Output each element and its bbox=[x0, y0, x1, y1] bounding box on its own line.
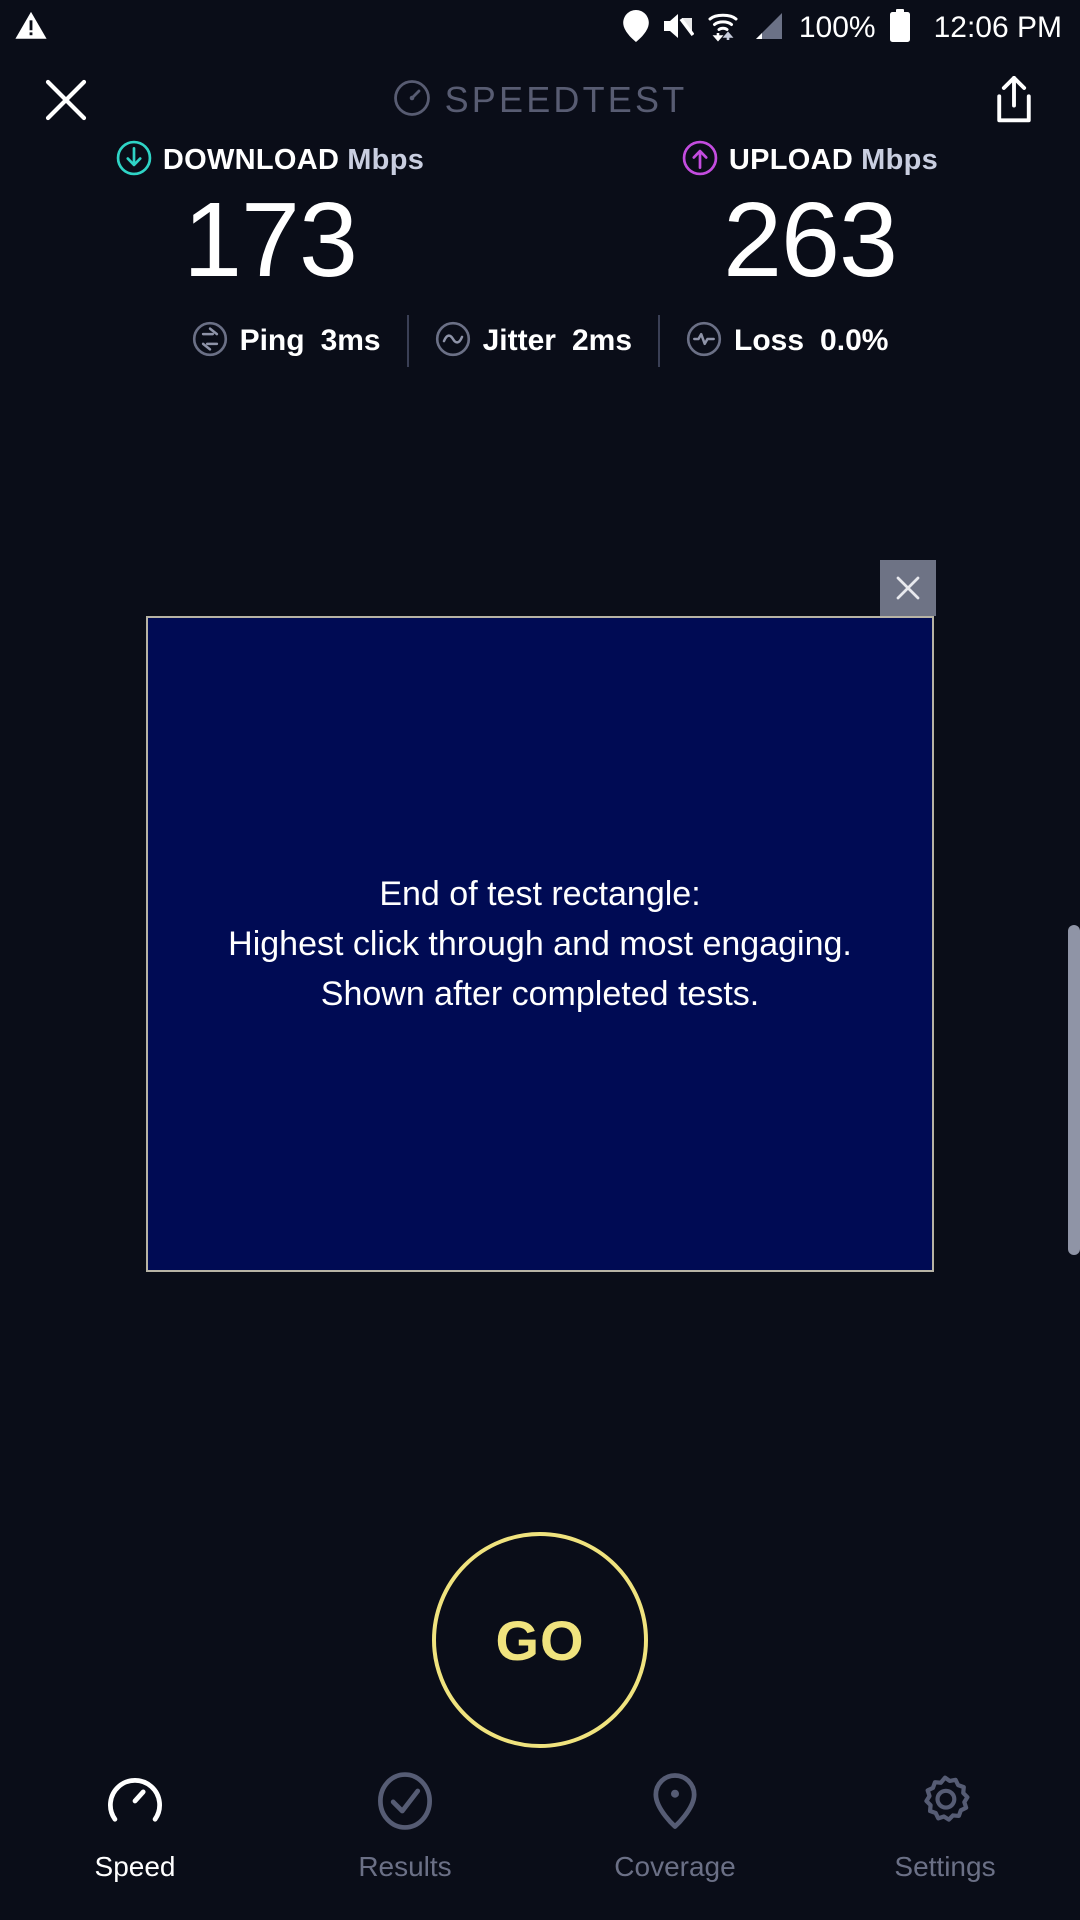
download-label-text: DOWNLOAD bbox=[163, 144, 339, 176]
nav-item-settings[interactable]: Settings bbox=[810, 1770, 1080, 1883]
speedtest-app-screen: 100% 12:06 PM SP bbox=[0, 0, 1080, 1920]
upload-value: 263 bbox=[723, 187, 897, 293]
speedometer-icon bbox=[104, 1770, 166, 1837]
download-value: 173 bbox=[183, 187, 357, 293]
stat-ping: Ping 3ms bbox=[166, 321, 407, 362]
jitter-icon bbox=[435, 321, 471, 362]
status-bar-left bbox=[14, 9, 48, 48]
results-summary: DOWNLOADMbps 173 UPLOADMbps bbox=[0, 140, 1080, 367]
ping-icon bbox=[192, 321, 228, 362]
ping-label: Ping bbox=[240, 324, 305, 358]
jitter-label: Jitter bbox=[483, 324, 556, 358]
status-bar-clock: 12:06 PM bbox=[934, 11, 1062, 45]
loss-icon bbox=[686, 321, 722, 362]
upload-metric: UPLOADMbps 263 bbox=[540, 140, 1080, 293]
wifi-transfer-icon bbox=[707, 10, 739, 47]
advertisement-text: End of test rectangle: Highest click thr… bbox=[228, 869, 852, 1020]
nav-label-results: Results bbox=[358, 1851, 451, 1883]
ad-close-icon[interactable] bbox=[880, 560, 936, 616]
check-circle-icon bbox=[374, 1770, 436, 1837]
nav-label-coverage: Coverage bbox=[614, 1851, 735, 1883]
map-pin-icon bbox=[644, 1770, 706, 1837]
jitter-value: 2ms bbox=[572, 324, 632, 358]
go-button-label: GO bbox=[495, 1608, 584, 1673]
ping-value: 3ms bbox=[321, 324, 381, 358]
volume-muted-icon bbox=[662, 11, 694, 46]
upload-label-row: UPLOADMbps bbox=[682, 140, 938, 181]
warning-triangle-icon bbox=[14, 9, 48, 48]
loss-label: Loss bbox=[734, 324, 804, 358]
upload-label: UPLOADMbps bbox=[729, 144, 938, 177]
share-icon[interactable] bbox=[986, 72, 1042, 128]
battery-percent-label: 100% bbox=[799, 11, 876, 45]
upload-arrow-icon bbox=[682, 140, 718, 181]
download-unit: Mbps bbox=[347, 144, 424, 176]
location-pin-icon bbox=[623, 10, 649, 47]
nav-item-speed[interactable]: Speed bbox=[0, 1770, 270, 1883]
download-upload-row: DOWNLOADMbps 173 UPLOADMbps bbox=[0, 140, 1080, 293]
close-icon[interactable] bbox=[38, 72, 94, 128]
stat-jitter: Jitter 2ms bbox=[409, 321, 658, 362]
status-bar-right: 100% 12:06 PM bbox=[623, 9, 1062, 48]
download-label-row: DOWNLOADMbps bbox=[116, 140, 424, 181]
go-button[interactable]: GO bbox=[432, 1532, 648, 1748]
download-arrow-icon bbox=[116, 140, 152, 181]
bottom-navigation: Speed Results Coverage bbox=[0, 1752, 1080, 1920]
nav-item-coverage[interactable]: Coverage bbox=[540, 1770, 810, 1883]
download-metric: DOWNLOADMbps 173 bbox=[0, 140, 540, 293]
nav-label-settings: Settings bbox=[894, 1851, 995, 1883]
cell-signal-icon bbox=[752, 11, 784, 46]
gear-icon bbox=[914, 1770, 976, 1837]
brand: SPEEDTEST bbox=[393, 79, 688, 122]
advertisement-banner[interactable]: End of test rectangle: Highest click thr… bbox=[146, 616, 934, 1272]
loss-value: 0.0% bbox=[820, 324, 888, 358]
upload-label-text: UPLOAD bbox=[729, 144, 853, 176]
battery-full-icon bbox=[889, 9, 911, 48]
scrollbar-thumb[interactable] bbox=[1068, 925, 1080, 1255]
brand-title: SPEEDTEST bbox=[445, 79, 688, 121]
speedometer-icon bbox=[393, 79, 431, 122]
download-label: DOWNLOADMbps bbox=[163, 144, 424, 177]
app-header: SPEEDTEST bbox=[0, 56, 1080, 144]
stat-loss: Loss 0.0% bbox=[660, 321, 914, 362]
network-stats-row: Ping 3ms Jitter 2ms bbox=[0, 315, 1080, 367]
status-bar: 100% 12:06 PM bbox=[0, 0, 1080, 56]
nav-item-results[interactable]: Results bbox=[270, 1770, 540, 1883]
nav-label-speed: Speed bbox=[95, 1851, 176, 1883]
upload-unit: Mbps bbox=[861, 144, 938, 176]
